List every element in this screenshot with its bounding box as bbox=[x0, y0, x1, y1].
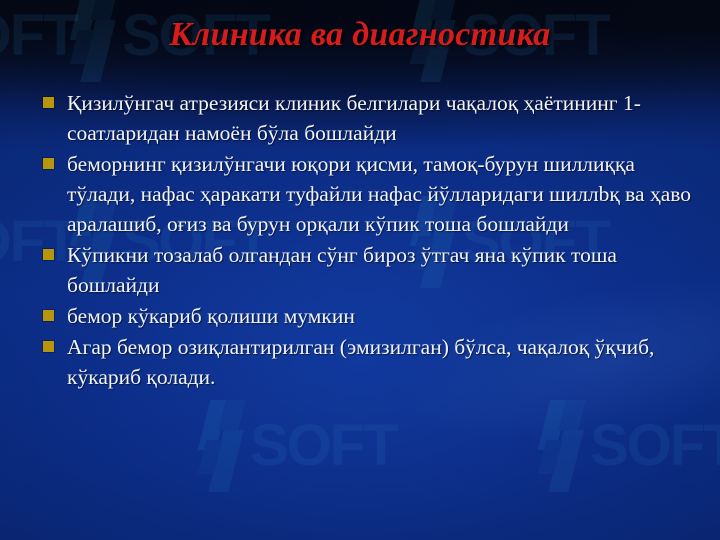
list-item-text: Қизилўнгач атрезияси клиник белгилари ча… bbox=[67, 88, 700, 148]
bullet-square-icon bbox=[43, 310, 54, 321]
list-item: бемор кўкариб қолиши мумкин bbox=[36, 301, 700, 331]
slide-title: Клиника ва диагностика bbox=[0, 16, 720, 54]
list-item: Кўпикни тозалаб олгандан сўнг бироз ўтга… bbox=[36, 240, 700, 300]
bullet-list: Қизилўнгач атрезияси клиник белгилари ча… bbox=[36, 88, 700, 393]
bullet-square-icon bbox=[43, 97, 54, 108]
bullet-square-icon bbox=[43, 249, 54, 260]
list-item-text: бемор кўкариб қолиши мумкин bbox=[67, 301, 700, 331]
bullet-square-icon bbox=[43, 341, 54, 352]
list-item: Қизилўнгач атрезияси клиник белгилари ча… bbox=[36, 88, 700, 148]
list-item-text: беморнинг қизилўнгачи юқори қисми, тамоқ… bbox=[67, 149, 700, 239]
list-item: Агар бемор озиқлантирилган (эмизилган) б… bbox=[36, 332, 700, 392]
list-item-text: Агар бемор озиқлантирилган (эмизилган) б… bbox=[67, 332, 700, 392]
slide-content: Клиника ва диагностика Қизилўнгач атрези… bbox=[0, 0, 720, 540]
list-item: беморнинг қизилўнгачи юқори қисми, тамоқ… bbox=[36, 149, 700, 239]
bullet-square-icon bbox=[43, 158, 54, 169]
presentation-slide: SOFT SOFT SOFT SOFT SOFT SOFT SOFT SOFT bbox=[0, 0, 720, 540]
list-item-text: Кўпикни тозалаб олгандан сўнг бироз ўтга… bbox=[67, 240, 700, 300]
